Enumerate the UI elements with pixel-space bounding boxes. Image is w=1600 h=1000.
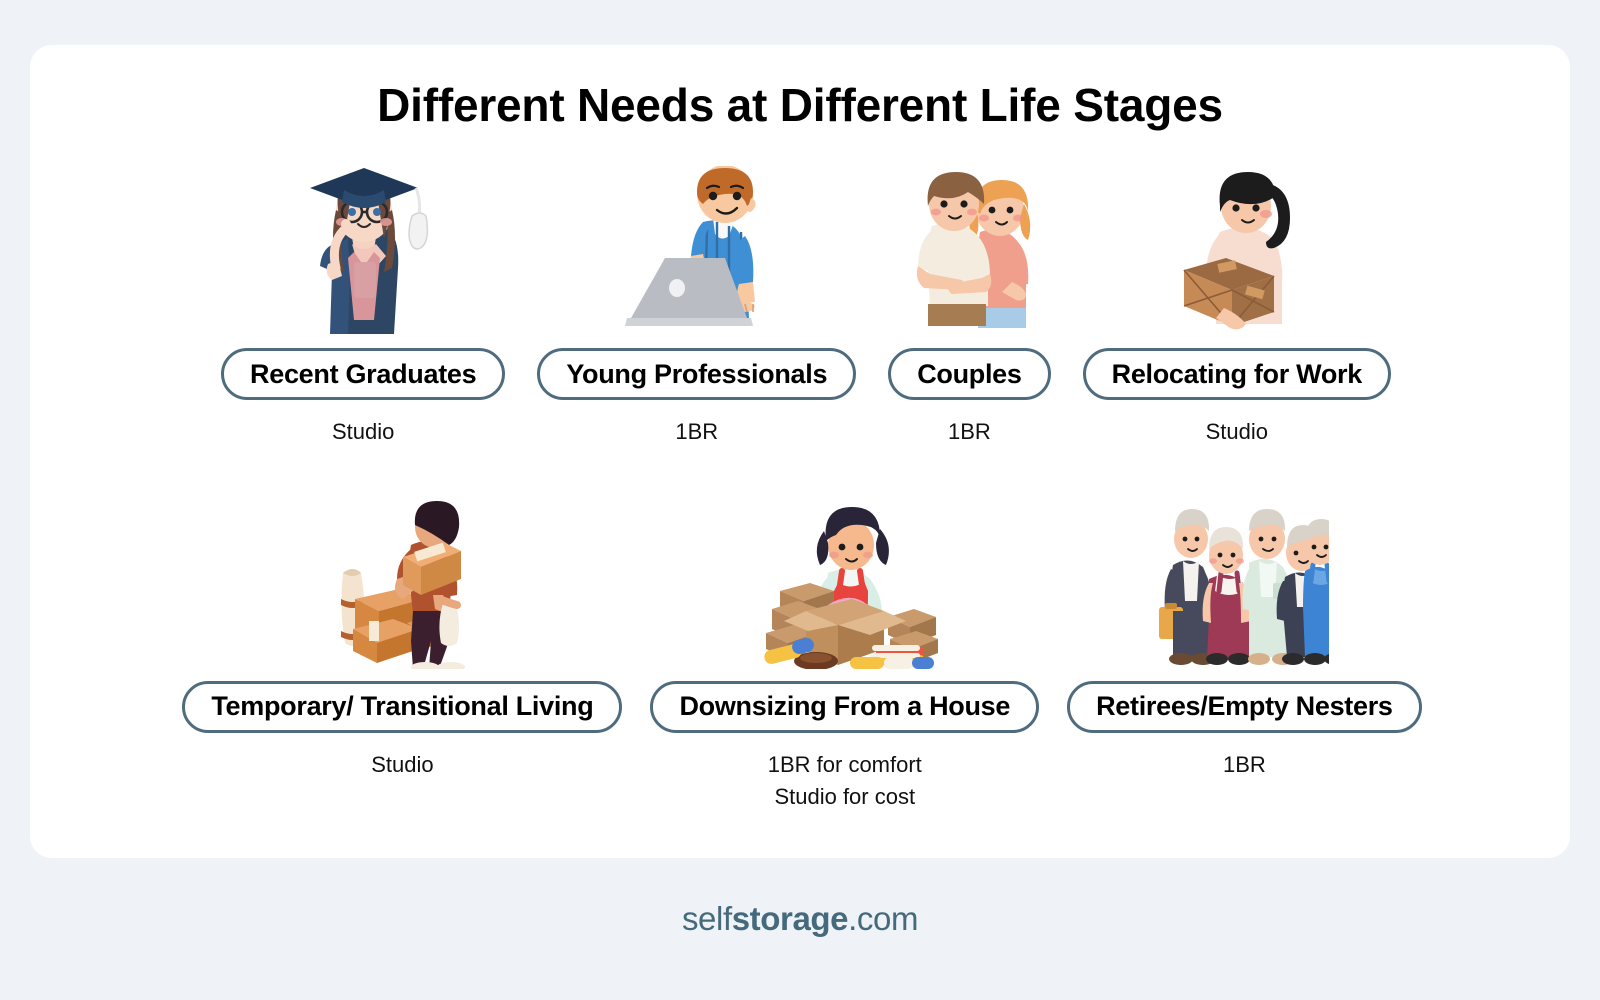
life-stage-pill[interactable]: Young Professionals — [537, 348, 856, 400]
content-card: Different Needs at Different Life Stages — [30, 45, 1570, 858]
life-stage-pill[interactable]: Temporary/ Transitional Living — [182, 681, 622, 733]
seniors-group-illustration — [1159, 493, 1329, 669]
life-stage-caption: Studio — [332, 416, 394, 448]
infographic-page: Different Needs at Different Life Stages — [0, 0, 1600, 1000]
life-stage-label: Retirees/Empty Nesters — [1096, 691, 1393, 722]
life-stage-label: Temporary/ Transitional Living — [211, 691, 593, 722]
brand-logo-self: self — [682, 900, 732, 937]
life-stage-card-couples[interactable]: Couples 1BR — [888, 160, 1050, 448]
life-stage-pill[interactable]: Couples — [888, 348, 1050, 400]
brand-logo-tld: .com — [848, 900, 918, 937]
life-stage-caption: 1BR — [675, 416, 718, 448]
life-stage-pill[interactable]: Relocating for Work — [1083, 348, 1391, 400]
brand-logo-storage: storage — [732, 900, 848, 937]
caption-line: Studio — [332, 416, 394, 448]
woman-carrying-boxes-illustration — [1162, 160, 1312, 336]
life-stage-caption: Studio — [371, 749, 433, 781]
woman-packing-boxes-illustration — [750, 493, 940, 669]
life-stage-label: Couples — [917, 359, 1021, 390]
graduate-illustration — [288, 160, 438, 336]
laptop-worker-illustration — [617, 160, 777, 336]
page-title: Different Needs at Different Life Stages — [30, 78, 1570, 132]
caption-line: 1BR — [675, 416, 718, 448]
life-stage-label: Relocating for Work — [1112, 359, 1362, 390]
life-stage-card-retirees-empty-nesters[interactable]: Retirees/Empty Nesters 1BR — [1067, 493, 1422, 781]
life-stage-pill[interactable]: Recent Graduates — [221, 348, 505, 400]
caption-line: Studio for cost — [768, 781, 922, 813]
life-stage-label: Young Professionals — [566, 359, 827, 390]
life-stage-card-recent-graduates[interactable]: Recent Graduates Studio — [221, 160, 505, 448]
caption-line: Studio — [371, 749, 433, 781]
life-stage-pill[interactable]: Downsizing From a House — [650, 681, 1039, 733]
life-stage-card-temporary-transitional-living[interactable]: Temporary/ Transitional Living Studio — [182, 493, 622, 781]
life-stage-caption: 1BR — [1223, 749, 1266, 781]
life-stage-caption: 1BR — [948, 416, 991, 448]
life-stage-label: Downsizing From a House — [679, 691, 1010, 722]
caption-line: 1BR — [1223, 749, 1266, 781]
life-stage-row-2: Temporary/ Transitional Living Studio — [30, 493, 1570, 813]
person-lifting-box-illustration — [327, 493, 477, 669]
life-stage-label: Recent Graduates — [250, 359, 476, 390]
life-stage-caption: Studio — [1206, 416, 1268, 448]
life-stage-pill[interactable]: Retirees/Empty Nesters — [1067, 681, 1422, 733]
caption-line: Studio — [1206, 416, 1268, 448]
life-stage-card-downsizing-from-a-house[interactable]: Downsizing From a House 1BR for comfort … — [650, 493, 1039, 813]
couple-illustration — [894, 160, 1044, 336]
life-stage-grid: Recent Graduates Studio — [30, 160, 1570, 813]
life-stage-card-young-professionals[interactable]: Young Professionals 1BR — [537, 160, 856, 448]
life-stage-card-relocating-for-work[interactable]: Relocating for Work Studio — [1083, 160, 1391, 448]
brand-logo[interactable]: selfstorage.com — [0, 900, 1600, 938]
caption-line: 1BR — [948, 416, 991, 448]
caption-line: 1BR for comfort — [768, 749, 922, 781]
life-stage-row-1: Recent Graduates Studio — [30, 160, 1570, 448]
life-stage-caption: 1BR for comfort Studio for cost — [768, 749, 922, 813]
